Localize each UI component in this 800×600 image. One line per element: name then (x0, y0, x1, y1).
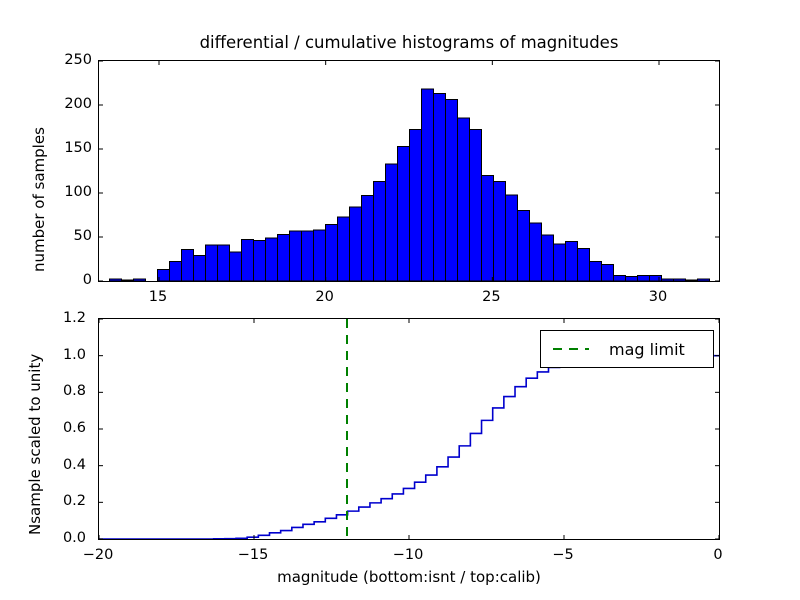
top-xtick-label: 20 (315, 290, 333, 304)
histogram-bar (134, 279, 146, 281)
top-ytick-labels: 050100150200250 (46, 60, 92, 282)
figure-canvas: differential / cumulative histograms of … (0, 0, 800, 600)
histogram-bar (566, 241, 578, 281)
top-xtick-label: 25 (482, 290, 500, 304)
histogram-bar (458, 118, 470, 281)
histogram-bar (554, 244, 566, 281)
histogram-bar (662, 279, 674, 281)
histogram-bar (422, 89, 434, 281)
histogram-bar (386, 164, 398, 281)
histogram-bar (518, 211, 530, 281)
histogram-bar (230, 252, 242, 281)
top-histogram-axes (98, 60, 720, 282)
bottom-ytick-label: 0.4 (63, 458, 86, 472)
top-ytick-label: 200 (64, 97, 92, 111)
histogram-bar (110, 279, 122, 281)
cumulative-step-curve (99, 356, 719, 539)
top-ytick-label: 0 (83, 273, 92, 287)
histogram-bar (614, 276, 626, 281)
histogram-bar (446, 100, 458, 281)
top-ytick-label: 100 (64, 185, 92, 199)
bottom-xtick-label: −20 (83, 548, 114, 562)
histogram-bar (374, 182, 386, 281)
histogram-bar (338, 217, 350, 281)
bottom-y-axis-label: Nsample scaled to unity (26, 354, 44, 535)
bottom-ytick-label: 0.0 (63, 531, 86, 545)
mag-limit-line-icon (551, 342, 591, 356)
histogram-bar (194, 255, 206, 281)
top-xtick-labels: 15202530 (98, 290, 720, 310)
histogram-bar (578, 248, 590, 281)
histogram-bar (602, 264, 614, 281)
histogram-bar (122, 280, 134, 281)
histogram-bar (590, 262, 602, 281)
top-ytick-label: 250 (64, 53, 92, 67)
bottom-ytick-label: 1.2 (63, 311, 86, 325)
bottom-ytick-label: 0.8 (63, 384, 86, 398)
histogram-bar (626, 277, 638, 281)
histogram-bar (698, 279, 710, 281)
histogram-bar (542, 235, 554, 281)
histogram-bar (170, 262, 182, 281)
histogram-bar (494, 182, 506, 281)
bottom-xtick-label: −5 (552, 548, 573, 562)
bottom-ytick-label: 0.2 (63, 494, 86, 508)
chart-title: differential / cumulative histograms of … (98, 33, 720, 53)
histogram-bar (266, 238, 278, 281)
top-y-axis-label: number of samples (30, 127, 48, 272)
bottom-xtick-labels: −20−15−10−50 (98, 548, 720, 568)
histogram-bar (650, 276, 662, 281)
histogram-bar (254, 241, 266, 281)
histogram-bar (290, 231, 302, 281)
top-ytick-label: 150 (64, 141, 92, 155)
bottom-x-axis-label: magnitude (bottom:isnt / top:calib) (98, 568, 720, 586)
histogram-bar (314, 230, 326, 281)
histogram-bar (434, 94, 446, 281)
histogram-bar (302, 231, 314, 281)
histogram-bar (218, 245, 230, 281)
histogram-bar (482, 175, 494, 281)
histogram-bar (278, 234, 290, 281)
histogram-bar (206, 245, 218, 281)
top-xtick-label: 15 (149, 290, 167, 304)
histogram-bar (674, 279, 686, 281)
histogram-bar (506, 195, 518, 281)
bottom-xtick-label: 0 (713, 548, 722, 562)
bottom-xtick-label: −15 (238, 548, 269, 562)
histogram-bar (398, 146, 410, 281)
top-ytick-label: 50 (74, 229, 92, 243)
differential-histogram-svg (99, 61, 719, 281)
histogram-bar (530, 223, 542, 281)
histogram-bar (638, 276, 650, 281)
histogram-bar (326, 225, 338, 281)
histogram-bar (242, 240, 254, 281)
bottom-xtick-label: −10 (393, 548, 424, 562)
legend-label-mag-limit: mag limit (609, 340, 685, 359)
histogram-bar (350, 207, 362, 281)
bottom-ytick-label: 1.0 (63, 348, 86, 362)
histogram-bar (686, 280, 698, 281)
bottom-ytick-label: 0.6 (63, 421, 86, 435)
legend-box: mag limit (540, 330, 714, 368)
histogram-bar (410, 130, 422, 281)
bottom-ytick-labels: 0.00.20.40.60.81.01.2 (40, 318, 86, 540)
histogram-bar (182, 249, 194, 281)
histogram-bar (470, 130, 482, 281)
top-plot-area (99, 61, 719, 281)
top-xtick-label: 30 (649, 290, 667, 304)
histogram-bar (362, 196, 374, 281)
